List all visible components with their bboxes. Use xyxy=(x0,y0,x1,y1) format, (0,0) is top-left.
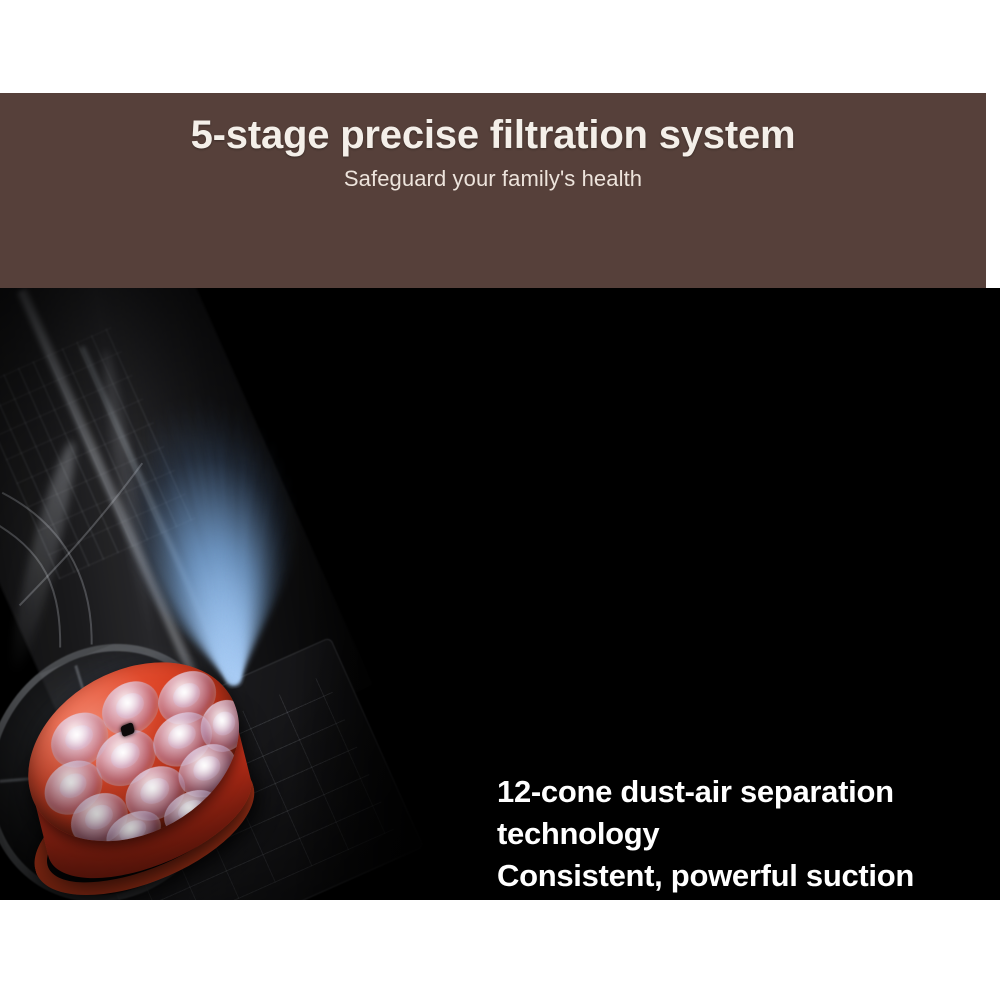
product-image xyxy=(0,288,490,900)
page-subtitle: Safeguard your family's health xyxy=(0,166,986,192)
header-band: 5-stage precise filtration system Safegu… xyxy=(0,93,986,288)
page-title: 5-stage precise filtration system xyxy=(0,113,986,158)
feature-copy-block: 12-cone dust-air separation technology C… xyxy=(497,771,977,900)
hero-panel: 12-cone dust-air separation technology C… xyxy=(0,288,1000,900)
feature-heading: 12-cone dust-air separation technology C… xyxy=(497,771,977,900)
product-feature-page: 5-stage precise filtration system Safegu… xyxy=(0,0,1000,1000)
